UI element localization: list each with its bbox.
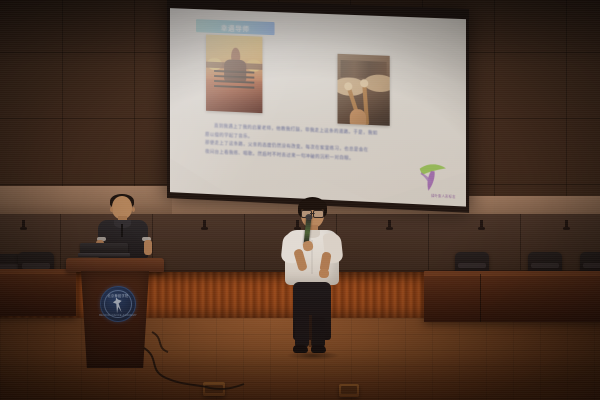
laptop-on-podium[interactable]: [80, 243, 128, 257]
wall-hook-icon: [565, 220, 568, 229]
auditorium-photo: 幸遇导师: [0, 0, 600, 400]
slide-photo-timpani: [338, 54, 390, 126]
wall-hook-icon: [22, 220, 25, 229]
panel-table-left: [0, 272, 76, 316]
slide-title: 幸遇导师: [196, 21, 275, 34]
presentation-logo-caption: 绿叶紫人形标志: [431, 193, 456, 199]
slide-body-text: 直到我遇上了我的启蒙老师，他教我打鼓，带我走上这条的道路。于是，我如 愿以偿的学…: [205, 122, 441, 167]
wall-hook-icon: [480, 220, 483, 229]
projection-screen: 幸遇导师: [167, 0, 469, 213]
speaker-with-microphone: [283, 197, 341, 362]
slide-title-bar: 幸遇导师: [196, 19, 275, 35]
slide-photo-drummer: [206, 35, 262, 114]
projected-slide: 幸遇导师: [170, 8, 466, 206]
presentation-logo-icon: [414, 157, 449, 193]
emblem-top-text: 北京舞蹈学院: [108, 293, 129, 298]
wall-hook-icon: [388, 220, 391, 229]
panel-table-right: [424, 274, 600, 322]
wall-hook-icon: [203, 220, 206, 229]
stage-monitor-box-right: [339, 384, 359, 397]
institution-emblem: 北京舞蹈学院 BEIJING DANCE ACADEMY: [100, 286, 136, 322]
eyeglasses-icon: [301, 210, 324, 216]
white-blouse: [285, 230, 339, 285]
emblem-bottom-text: BEIJING DANCE ACADEMY: [99, 314, 137, 317]
cable-loop: [150, 330, 190, 370]
